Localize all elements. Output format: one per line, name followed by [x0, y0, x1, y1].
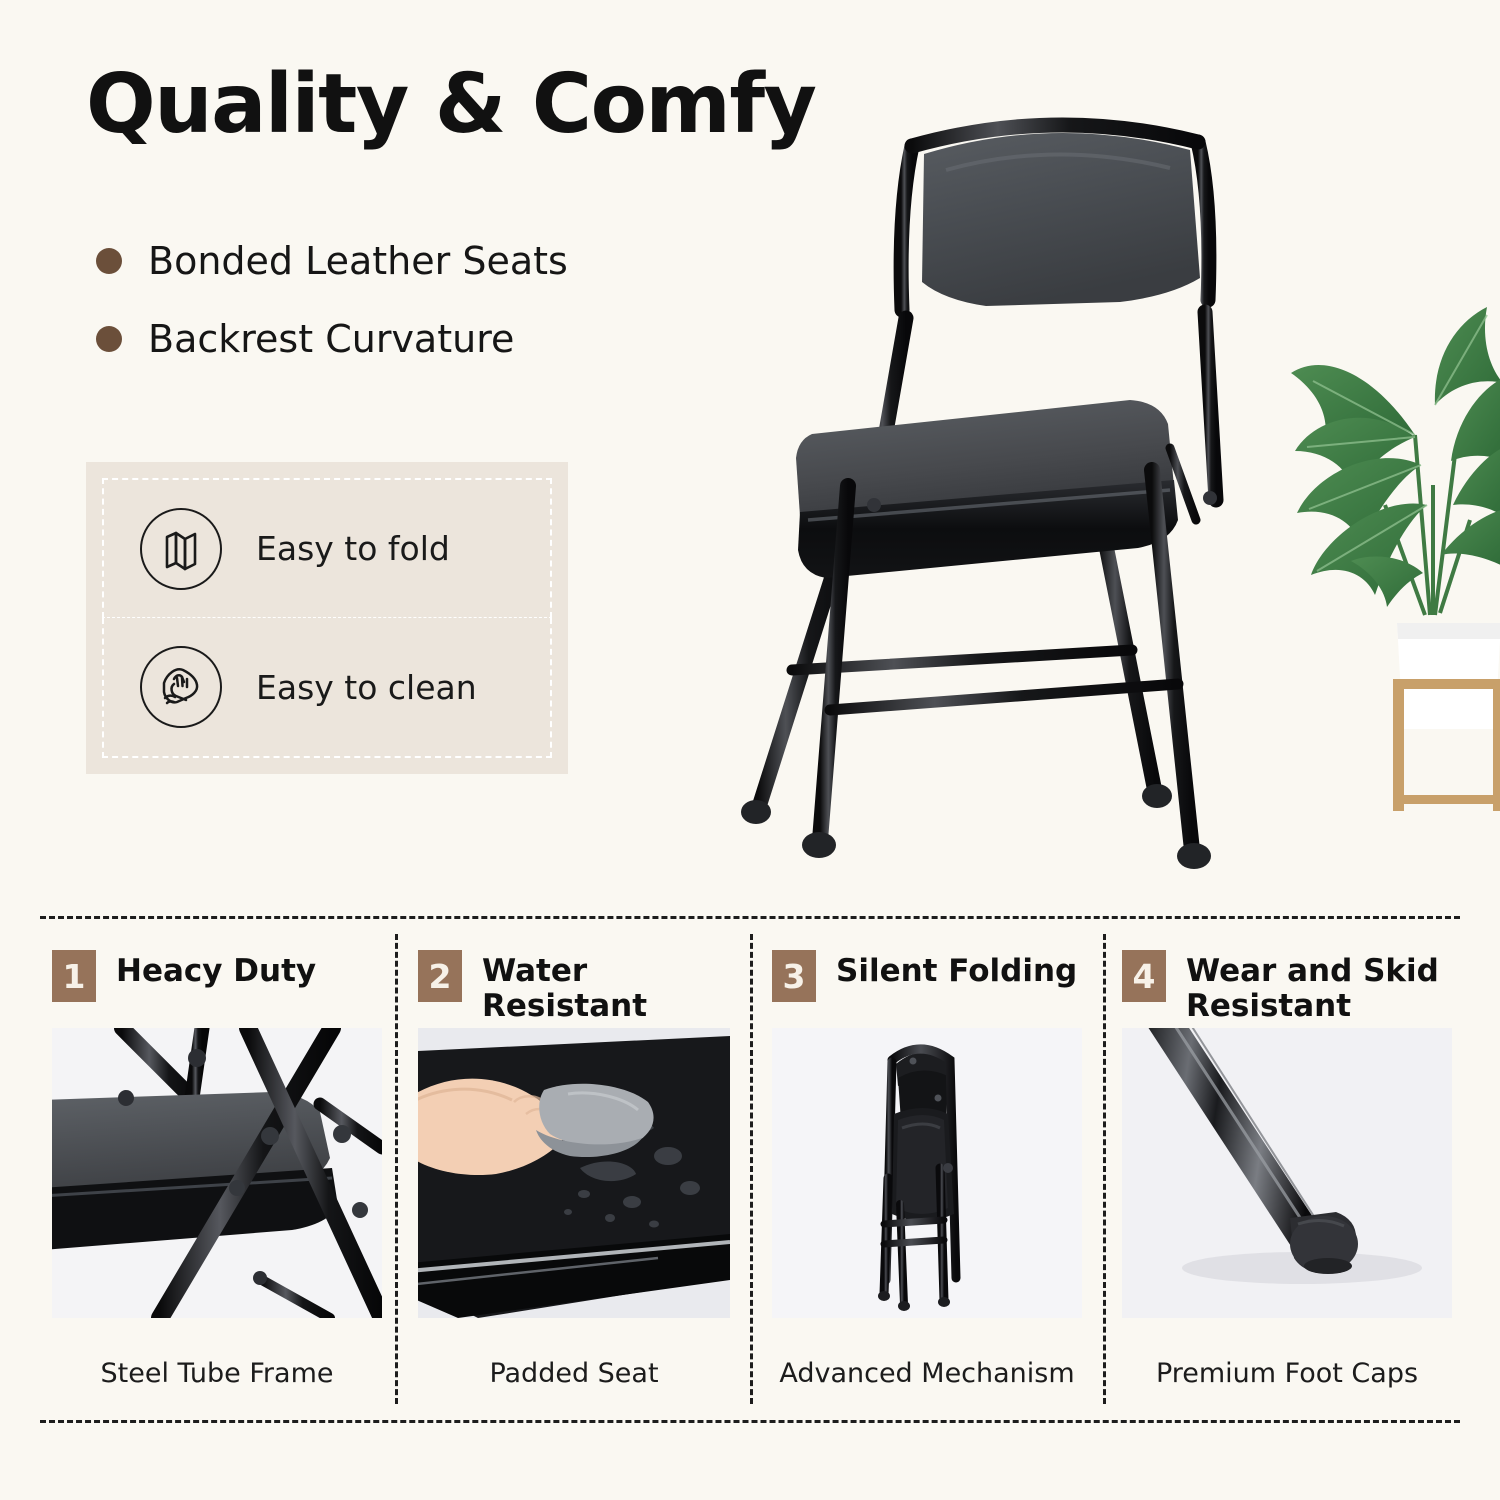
feature-label: Easy to fold — [256, 529, 450, 568]
bullet-dot-icon — [96, 248, 122, 274]
monstera-plant-photo — [1255, 255, 1500, 835]
feature-card-1: 1 Heacy Duty — [52, 936, 382, 1406]
feature-card-3: 3 Silent Folding — [772, 936, 1082, 1406]
feature-card-4: 4 Wear and Skid Resistant — [1122, 936, 1452, 1406]
feature-card-2: 2 Water Resistant — [418, 936, 730, 1406]
card-title: Heacy Duty — [116, 950, 316, 989]
divider-bottom — [40, 1420, 1460, 1423]
folded-chair-photo — [772, 1028, 1082, 1318]
steel-tube-frame-closeup-photo — [52, 1028, 382, 1318]
bullet-label: Bonded Leather Seats — [148, 239, 568, 283]
features-cards-section: 1 Heacy Duty — [0, 900, 1500, 1500]
card-number-badge: 1 — [52, 950, 96, 1002]
black-folding-chair-photo — [700, 50, 1320, 890]
hero-section: Quality & Comfy Bonded Leather Seats Bac… — [0, 0, 1500, 900]
bullet-dot-icon — [96, 326, 122, 352]
card-title: Water Resistant — [482, 950, 730, 1023]
card-title: Wear and Skid Resistant — [1186, 950, 1452, 1023]
card-caption: Premium Foot Caps — [1122, 1318, 1452, 1389]
card-number-badge: 3 — [772, 950, 816, 1002]
divider-vertical-2 — [750, 934, 753, 1404]
folded-map-icon — [140, 508, 222, 590]
card-number-badge: 2 — [418, 950, 462, 1002]
feature-label: Easy to clean — [256, 668, 477, 707]
feature-panel: Easy to fold Easy to clean — [86, 462, 568, 774]
card-header: 1 Heacy Duty — [52, 936, 382, 1028]
card-title: Silent Folding — [836, 950, 1077, 989]
hand-wiping-water-droplets-photo — [418, 1028, 730, 1318]
card-header: 3 Silent Folding — [772, 936, 1082, 1028]
card-header: 2 Water Resistant — [418, 936, 730, 1028]
card-number-badge: 4 — [1122, 950, 1166, 1002]
card-header: 4 Wear and Skid Resistant — [1122, 936, 1452, 1028]
card-caption: Padded Seat — [418, 1318, 730, 1389]
divider-vertical-1 — [395, 934, 398, 1404]
card-caption: Steel Tube Frame — [52, 1318, 382, 1389]
list-item: Bonded Leather Seats — [96, 232, 568, 290]
feature-row-easy-to-clean: Easy to clean — [102, 618, 552, 758]
card-caption: Advanced Mechanism — [772, 1318, 1082, 1389]
list-item: Backrest Curvature — [96, 310, 568, 368]
bullet-label: Backrest Curvature — [148, 317, 514, 361]
divider-vertical-3 — [1103, 934, 1106, 1404]
feature-row-easy-to-fold: Easy to fold — [102, 478, 552, 618]
bullet-list: Bonded Leather Seats Backrest Curvature — [96, 232, 568, 388]
divider-top — [40, 916, 1460, 919]
hand-wiping-cloth-icon — [140, 646, 222, 728]
chair-leg-foot-cap-closeup-photo — [1122, 1028, 1452, 1318]
